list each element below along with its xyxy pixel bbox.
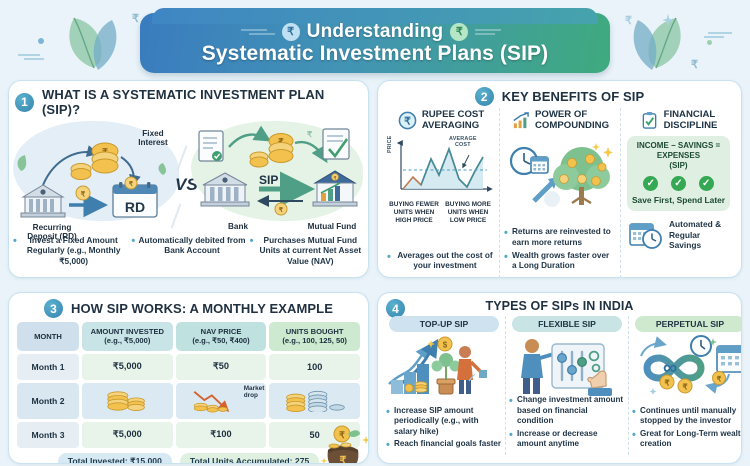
bank-caption: Bank — [205, 222, 271, 231]
sip-type-pill: TOP-UP SIP — [389, 316, 499, 332]
rupee-decoration-2: ₹ — [625, 14, 632, 27]
svg-text:₹: ₹ — [682, 383, 687, 392]
benefit-1-heading: ₹ RUPEE COST AVERAGING — [387, 110, 495, 131]
header-title-line1: Understanding — [307, 21, 444, 43]
list-item: Increase or decrease amount anytime — [509, 429, 625, 450]
rupee-badge-green-icon: ₹ — [450, 23, 468, 41]
cell-units-icon — [269, 383, 360, 419]
cell-nav: ₹50 — [176, 354, 267, 380]
leaf-decoration-right — [624, 10, 690, 74]
column-header-units: UNITS BOUGHT (e.g., 100, 125, 50) — [269, 322, 360, 351]
vs-slash-top — [177, 145, 188, 170]
sip-type-top-up: TOP-UP SIP $ — [383, 316, 505, 455]
automated-savings-row: Automated & Regular Savings — [629, 219, 732, 251]
section-2-title: KEY BENEFITS OF SIP — [502, 89, 645, 104]
column-header-nav: NAV PRICE (e.g., ₹50, ₹400) — [176, 322, 267, 351]
svg-text:$: $ — [443, 341, 448, 350]
list-item: Purchases Mutual Fund Units at current N… — [250, 235, 364, 267]
market-drop-label: Market drop — [244, 385, 265, 399]
coin-stacks-icon — [282, 390, 348, 412]
list-item: Invest a Fixed Amount Regularly (e.g., M… — [13, 235, 127, 267]
table-row: Month 3 ₹5,000 ₹100 50 — [17, 422, 360, 448]
dot-decoration-1 — [38, 38, 44, 44]
header-banner: ₹ Understanding ₹ Systematic Investment … — [140, 13, 610, 73]
totals-row: Total Invested: ₹15,000 Total Units Accu… — [9, 453, 368, 465]
table-row: Month 2 — [17, 383, 360, 419]
cell-month: Month 3 — [17, 422, 79, 448]
growth-stairs-plant-icon: $ — [387, 334, 501, 396]
cell-month: Month 2 — [17, 383, 79, 419]
section-1-bullets: Invest a Fixed Amount Regularly (e.g., M… — [13, 235, 364, 267]
perpetual-illustration: ∞ ₹ ₹ — [633, 334, 742, 396]
section-3-header: 3 HOW SIP WORKS: A MONTHLY EXAMPLE — [9, 293, 368, 320]
cell-amount: ₹5,000 — [82, 354, 173, 380]
discipline-equation-box: INCOME − SAVINGS = EXPENSES (SIP) ✓ ✓ ✓ … — [627, 136, 730, 211]
table-header-row: MONTH AMOUNT INVESTED (e.g., ₹5,000) NAV… — [17, 322, 360, 351]
chart-captions: BUYING FEWER UNITS WHEN HIGH PRICE BUYIN… — [387, 201, 495, 224]
list-item: Averages out the cost of your investment — [387, 251, 495, 272]
rupee-badge-blue-icon: ₹ — [282, 23, 300, 41]
speed-lines-left — [18, 52, 46, 62]
rupee-circle-icon: ₹ — [398, 111, 417, 130]
svg-text:₹: ₹ — [717, 375, 722, 384]
bar-chart-growth-icon — [511, 111, 530, 130]
cell-units: 100 — [269, 354, 360, 380]
money-pot-icon: ₹ ₹ — [318, 420, 369, 465]
table-row: Month 1 ₹5,000 ₹50 100 — [17, 354, 360, 380]
sip-example-table: MONTH AMOUNT INVESTED (e.g., ₹5,000) NAV… — [17, 322, 360, 448]
rupee-decoration-1: ₹ — [132, 12, 139, 25]
flexible-bullets: Change investment amount based on financ… — [509, 395, 625, 452]
leaf-decoration-left — [60, 10, 126, 74]
chart-y-axis-label: PRICE — [387, 136, 393, 153]
cell-month: Month 1 — [17, 354, 79, 380]
section-1-header: 1 WHAT IS A SYSTEMATIC INVESTMENT PLAN (… — [9, 81, 368, 119]
calendar-clock-icon — [629, 220, 663, 250]
section-4-header: 4 TYPES OF SIPs IN INDIA — [378, 293, 741, 315]
perpetual-bullets: Continues until manually stopped by the … — [632, 406, 742, 452]
benefit-1-title: RUPEE COST AVERAGING — [422, 110, 484, 131]
section-1-card: 1 WHAT IS A SYSTEMATIC INVESTMENT PLAN (… — [8, 80, 369, 278]
section-1-title: WHAT IS A SYSTEMATIC INVESTMENT PLAN (SI… — [42, 87, 362, 117]
list-item: Automatically debited from Bank Account — [131, 235, 245, 267]
section-4-columns: TOP-UP SIP $ — [378, 315, 741, 455]
svg-text:₹: ₹ — [81, 191, 86, 199]
list-item: Change investment amount based on financ… — [509, 395, 625, 427]
list-item: Reach financial goals faster — [386, 439, 502, 450]
benefit-rupee-cost-averaging: ₹ RUPEE COST AVERAGING — [383, 108, 499, 278]
sip-type-pill: FLEXIBLE SIP — [512, 316, 622, 332]
section-3-card: 3 HOW SIP WORKS: A MONTHLY EXAMPLE MONTH… — [8, 292, 369, 464]
chart-caption-right: BUYING MORE UNITS WHEN LOW PRICE — [443, 201, 493, 224]
section-4-title: TYPES OF SIPs IN INDIA — [485, 299, 633, 313]
column-header-month: MONTH — [17, 322, 79, 351]
benefit-3-title: FINANCIAL DISCIPLINE — [664, 110, 718, 131]
list-item: Great for Long-Term wealth creation — [632, 429, 742, 450]
infographic-page: ₹ ₹ ₹ ₹ Understanding ₹ — [0, 0, 750, 466]
cell-amount: ₹5,000 — [82, 422, 173, 448]
benefit-1-bullets: Averages out the cost of your investment — [387, 251, 495, 274]
dot-decoration-2 — [707, 40, 712, 45]
section-3-title: HOW SIP WORKS: A MONTHLY EXAMPLE — [71, 301, 333, 316]
benefit-2-heading: POWER OF COMPOUNDING — [504, 110, 616, 131]
sip-diagram: ₹ ₹ — [195, 123, 361, 219]
benefit-power-of-compounding: POWER OF COMPOUNDING — [499, 108, 620, 278]
benefit-3-heading: FINANCIAL DISCIPLINE — [625, 110, 732, 131]
cell-nav: ₹100 — [176, 422, 267, 448]
rupee-cost-averaging-chart: PRICE AVERAGE COST — [387, 137, 495, 199]
top-up-illustration: $ — [387, 334, 501, 396]
cell-nav-icon: Market drop — [176, 383, 267, 419]
rupee-decoration-3: ₹ — [691, 58, 698, 71]
svg-text:₹: ₹ — [339, 430, 345, 440]
benefit-2-bullets: Returns are reinvested to earn more retu… — [504, 227, 616, 274]
mutual-fund-caption: Mutual Fund — [297, 222, 367, 231]
sip-flow-label: SIP — [259, 173, 278, 187]
svg-text:RD: RD — [125, 199, 145, 215]
sparkle-decoration — [662, 14, 674, 26]
sliders-control-icon — [510, 334, 624, 396]
section-3-number: 3 — [44, 299, 63, 318]
section-1-number: 1 — [15, 93, 34, 112]
motion-lines-left-icon — [241, 28, 275, 36]
motion-lines-right-icon — [475, 28, 509, 36]
svg-text:₹: ₹ — [340, 455, 347, 465]
section-2-number: 2 — [475, 87, 494, 106]
header: ₹ ₹ ₹ ₹ Understanding ₹ — [8, 6, 742, 80]
compounding-tree-illustration — [504, 135, 616, 211]
svg-text:₹: ₹ — [404, 117, 411, 128]
section-4-card: 4 TYPES OF SIPs IN INDIA TOP-UP SIP — [377, 292, 742, 464]
check-icon: ✓ — [671, 176, 686, 191]
flexible-illustration — [510, 334, 624, 396]
fixed-interest-label: Fixed Interest — [127, 129, 179, 148]
benefit-2-title: POWER OF COMPOUNDING — [535, 110, 609, 131]
coins-icon — [101, 390, 153, 412]
cell-amount-icon — [82, 383, 173, 419]
sip-type-flexible: FLEXIBLE SIP — [505, 316, 628, 455]
svg-text:₹: ₹ — [307, 130, 312, 139]
discipline-checkmarks: ✓ ✓ ✓ — [637, 176, 720, 191]
section-2-card: 2 KEY BENEFITS OF SIP ₹ RUPEE COST AVERA… — [377, 80, 742, 278]
check-icon: ✓ — [643, 176, 658, 191]
cards-grid: 1 WHAT IS A SYSTEMATIC INVESTMENT PLAN (… — [8, 80, 742, 464]
chart-caption-left: BUYING FEWER UNITS WHEN HIGH PRICE — [389, 201, 439, 224]
average-cost-annotation: AVERAGE COST — [449, 137, 477, 149]
list-item: Continues until manually stopped by the … — [632, 406, 742, 427]
total-units-badge: Total Units Accumulated: 275 — [180, 453, 319, 465]
sip-type-perpetual: PERPETUAL SIP ∞ — [628, 316, 742, 455]
list-item: Returns are reinvested to earn more retu… — [504, 227, 616, 248]
list-item: Increase SIP amount periodically (e.g., … — [386, 406, 502, 438]
total-invested-badge: Total Invested: ₹15,000 — [58, 453, 172, 465]
market-drop-icon — [191, 389, 251, 413]
discipline-equation: INCOME − SAVINGS = EXPENSES (SIP) — [631, 141, 726, 171]
top-up-bullets: Increase SIP amount periodically (e.g., … — [386, 406, 502, 452]
column-header-amount: AMOUNT INVESTED (e.g., ₹5,000) — [82, 322, 173, 351]
header-title-row: ₹ Understanding ₹ — [241, 21, 510, 43]
svg-text:₹: ₹ — [664, 379, 669, 388]
list-item: Wealth grows faster over a Long Duration — [504, 251, 616, 272]
speed-lines-right — [704, 30, 734, 40]
automated-savings-label: Automated & Regular Savings — [669, 219, 732, 251]
section-1-body: ₹ ₹ — [9, 119, 368, 269]
check-icon: ✓ — [699, 176, 714, 191]
sip-type-pill: PERPETUAL SIP — [635, 316, 742, 332]
discipline-subtitle: Save First, Spend Later — [631, 195, 726, 205]
header-title-line2: Systematic Investment Plans (SIP) — [202, 42, 548, 66]
clipboard-check-icon — [640, 111, 659, 130]
chart-svg — [387, 137, 495, 199]
section-2-header: 2 KEY BENEFITS OF SIP — [378, 81, 741, 108]
benefit-financial-discipline: FINANCIAL DISCIPLINE INCOME − SAVINGS = … — [620, 108, 736, 278]
infinity-clock-calendar-icon: ∞ ₹ ₹ — [633, 334, 742, 396]
section-2-columns: ₹ RUPEE COST AVERAGING — [378, 108, 741, 278]
